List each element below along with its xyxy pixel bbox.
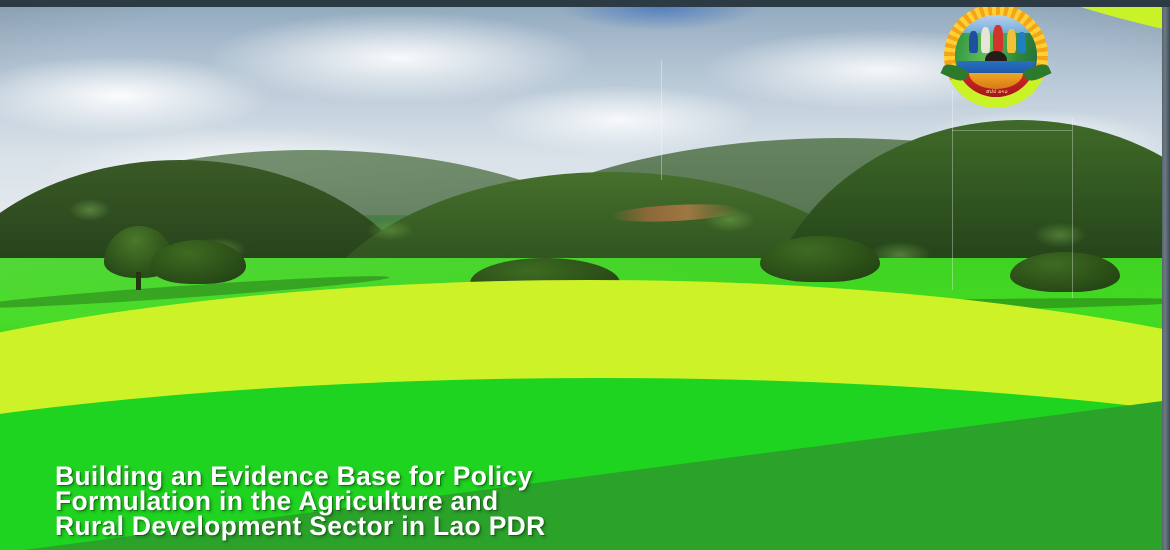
- bush: [760, 236, 880, 282]
- lao-national-emblem: ສປປ ລາວ: [944, 4, 1048, 108]
- scan-guide-line: [1072, 118, 1073, 298]
- emblem-ribbon-text: ສປປ ລາວ: [965, 89, 1029, 95]
- publication-cover: ©Somphachanh Souvanvixay ສປປ ລາວ Buildin…: [0, 0, 1170, 550]
- bush: [150, 240, 246, 284]
- emblem-figure: [1007, 29, 1016, 53]
- cover-title-line-3: Rural Development Sector in Lao PDR: [55, 514, 835, 539]
- emblem-figure: [1018, 32, 1026, 53]
- scan-guide-line: [952, 130, 1072, 131]
- top-edge-border: [0, 0, 1170, 7]
- bush: [1010, 252, 1120, 292]
- top-right-edge-corner: [1162, 0, 1170, 7]
- right-edge-border: [1162, 0, 1170, 550]
- emblem-figure: [993, 25, 1003, 53]
- scan-guide-line: [661, 60, 662, 180]
- emblem-inner-scene: ສປປ ລາວ: [955, 15, 1037, 97]
- scan-guide-line: [952, 90, 953, 290]
- emblem-figure: [981, 27, 990, 53]
- cover-title: Building an Evidence Base for Policy For…: [55, 464, 835, 539]
- emblem-figure: [969, 31, 978, 53]
